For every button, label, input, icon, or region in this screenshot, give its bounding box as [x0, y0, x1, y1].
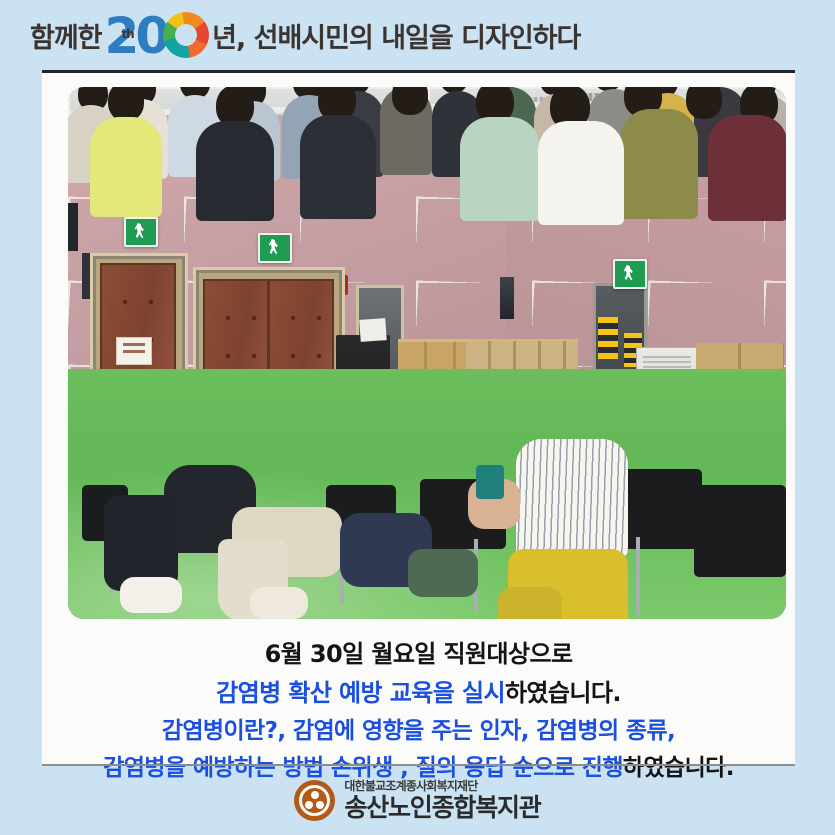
audience-body [620, 109, 698, 219]
photo-podium-paper [359, 318, 386, 342]
foreground-shoe [250, 587, 308, 619]
audience-head [686, 87, 722, 119]
audience-body [90, 117, 162, 217]
caption-line-3: 감염병이란?, 감염에 영향을 주는 인자, 감염병의 종류, [42, 713, 795, 750]
photo-door-notice [116, 337, 152, 365]
organization-logo-icon [294, 780, 335, 821]
caption-line-2-highlight: 감염병 확산 예방 교육을 실시 [216, 679, 505, 707]
chair-leg [636, 537, 640, 615]
anniversary-20th-logo: 20 th [105, 11, 210, 59]
card-news-page: 함께한 20 th 년, 선배시민의 내일을 디자인하다 [0, 0, 835, 835]
organization-name: 송산노인종합복지관 [344, 795, 540, 821]
audience-body [708, 115, 786, 221]
exit-sign-icon [258, 233, 292, 263]
caption-line-4-rest: 하였습니다. [623, 755, 734, 781]
footer-branding: 대한불교조계종사회복지재단 송산노인종합복지관 [0, 780, 835, 821]
audience-body [460, 117, 540, 221]
audience-body [300, 115, 376, 219]
organization-parent-name: 대한불교조계종사회복지재단 [344, 780, 540, 793]
logo-suffix-th: th [105, 11, 151, 57]
logo-swirl-ring-icon [163, 12, 209, 58]
exit-sign-icon [613, 259, 647, 289]
content-card: 6월 30일 월요일 직원대상으로 감염병 확산 예방 교육을 실시하였습니다.… [42, 70, 795, 765]
audience-body [196, 121, 274, 221]
photo-wall-speaker-left [68, 203, 78, 251]
caption-line-1: 6월 30일 월요일 직원대상으로 [42, 635, 795, 674]
foreground-bag-2 [408, 549, 478, 597]
audience-head [108, 87, 144, 121]
caption-line-2: 감염병 확산 예방 교육을 실시하였습니다. [42, 674, 795, 713]
foreground-person-yellow-pants-2 [498, 587, 562, 619]
logo-dot-top [311, 791, 319, 799]
logo-dot-bottom-left [305, 801, 313, 809]
photo-wall-speaker-right [500, 277, 514, 319]
banner-text-before: 함께한 [30, 16, 102, 55]
chair [694, 485, 786, 577]
organization-name-block: 대한불교조계종사회복지재단 송산노인종합복지관 [344, 780, 540, 821]
banner-slogan: 함께한 20 th 년, 선배시민의 내일을 디자인하다 [30, 11, 580, 59]
footer-divider [42, 764, 795, 766]
banner-text-after: 년, 선배시민의 내일을 디자인하다 [212, 16, 580, 55]
header-banner: 함께한 20 th 년, 선배시민의 내일을 디자인하다 [0, 0, 835, 70]
audience-body [538, 121, 624, 225]
foreground-booklet [476, 465, 504, 499]
foreground-shoe [120, 577, 182, 613]
caption-line-2-rest: 하였습니다. [505, 679, 621, 707]
event-photo [68, 87, 786, 619]
exit-sign-icon [124, 217, 158, 247]
logo-dot-bottom-right [316, 801, 324, 809]
foreground-person-stripes [516, 439, 628, 559]
photo-hazard-sign-1 [598, 317, 618, 359]
caption-line-4-highlight: 감염병을 예방하는 방법 손위생 , 질의 응답 순으로 진행 [103, 755, 623, 781]
